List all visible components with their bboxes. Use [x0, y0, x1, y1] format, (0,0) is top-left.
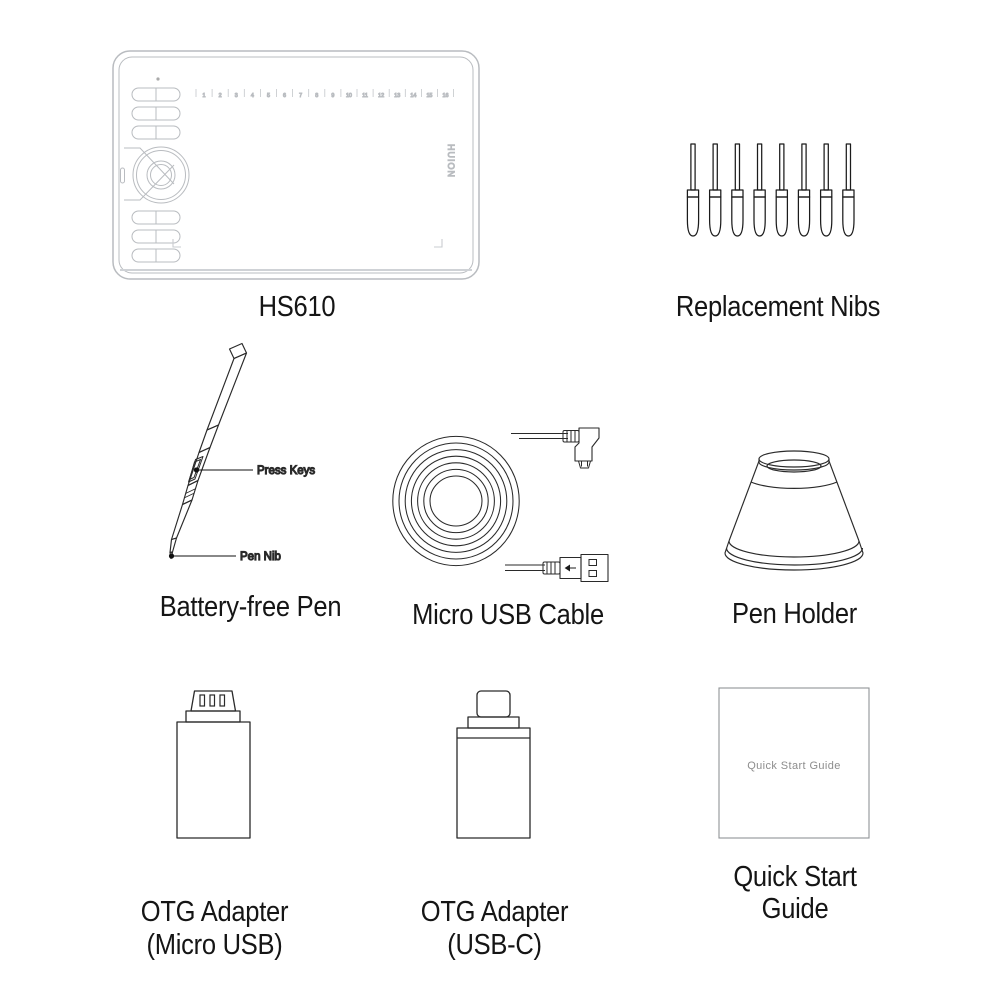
- nib: [843, 144, 854, 236]
- pen-holder-icon: [707, 440, 882, 580]
- stylus-pen-icon: Press Keys Pen Nib: [150, 335, 350, 580]
- ruler-tick-label: 15: [426, 93, 432, 99]
- ruler-tick-label: 6: [283, 93, 286, 99]
- nib: [821, 144, 832, 236]
- ruler-tick-label: 9: [331, 93, 334, 99]
- ruler-tick-label: 14: [410, 93, 416, 99]
- caption-cable: Micro USB Cable: [372, 599, 645, 631]
- cable-coil-ring: [418, 463, 495, 539]
- otg-adapter-micro-usb-icon: [172, 686, 282, 848]
- ruler-tick-label: 5: [267, 93, 270, 99]
- package-contents-sheet: 12345678910111213141516 HUION HS610 Repl…: [0, 0, 1000, 1000]
- replacement-nibs-icon: [683, 138, 873, 248]
- callout-label-press-keys: Press Keys: [257, 465, 315, 477]
- item-otg-usb-c: OTG Adapter (USB-C): [452, 686, 562, 848]
- ruler-tick-label: 2: [219, 93, 222, 99]
- caption-otg-micro-usb-line1: OTG Adapter: [141, 896, 288, 928]
- nib: [798, 144, 809, 236]
- cable-coil-ring: [424, 469, 488, 532]
- item-otg-micro-usb: OTG Adapter (Micro USB): [172, 686, 282, 848]
- cable-coil-ring: [405, 450, 507, 553]
- nib: [710, 144, 721, 236]
- quick-start-guide-icon: Quick Start Guide: [718, 687, 878, 845]
- callout-label-pen-nib: Pen Nib: [240, 551, 281, 563]
- callout-dot-pen-nib: [169, 553, 174, 558]
- caption-otg-micro-usb-line2: (Micro USB): [124, 929, 304, 961]
- item-pen: Press Keys Pen Nib Battery-free Pen: [150, 335, 350, 580]
- caption-otg-usb-c-line2: (USB-C): [404, 929, 584, 961]
- item-pen-holder: Pen Holder: [707, 440, 882, 580]
- ruler-tick-label: 7: [299, 93, 302, 99]
- caption-otg-usb-c-line1: OTG Adapter: [421, 896, 568, 928]
- item-cable: Micro USB Cable: [393, 425, 623, 585]
- ruler-tick-label: 10: [346, 93, 352, 99]
- cable-coil-ring: [430, 476, 482, 526]
- caption-otg-usb-c: OTG Adapter (USB-C): [404, 864, 584, 994]
- ruler-tick-label: 3: [235, 93, 238, 99]
- ruler-tick-label: 11: [362, 93, 368, 99]
- nib: [687, 144, 698, 236]
- ruler-tick-label: 12: [378, 93, 384, 99]
- item-quick-start-guide: Quick Start Guide Quick Start Guide: [718, 687, 878, 845]
- item-replacement-nibs: Replacement Nibs: [683, 138, 873, 248]
- ruler-tick-label: 1: [203, 93, 206, 99]
- caption-tablet: HS610: [130, 291, 464, 323]
- caption-replacement-nibs: Replacement Nibs: [659, 291, 897, 323]
- micro-usb-cable-icon: [393, 425, 623, 585]
- nib: [754, 144, 765, 236]
- ruler-tick-label: 16: [443, 93, 449, 99]
- caption-pen: Battery-free Pen: [125, 591, 376, 623]
- quick-start-guide-cover-text: Quick Start Guide: [747, 760, 841, 772]
- nib: [776, 144, 787, 236]
- graphics-tablet-icon: 12345678910111213141516 HUION: [110, 48, 482, 283]
- item-tablet: 12345678910111213141516 HUION HS610: [110, 48, 482, 283]
- otg-adapter-usb-c-icon: [452, 686, 562, 848]
- nib: [732, 144, 743, 236]
- cable-coil-ring: [399, 443, 513, 559]
- caption-pen-holder: Pen Holder: [709, 598, 881, 630]
- caption-quick-start-guide: Quick Start Guide: [711, 861, 878, 926]
- ruler-tick-label: 4: [251, 93, 254, 99]
- caption-otg-micro-usb: OTG Adapter (Micro USB): [124, 864, 304, 994]
- ruler-tick-label: 13: [394, 93, 400, 99]
- callout-dot-press-keys: [194, 467, 199, 472]
- ruler-tick-label: 8: [315, 93, 318, 99]
- huion-brand-mark: HUION: [446, 144, 456, 178]
